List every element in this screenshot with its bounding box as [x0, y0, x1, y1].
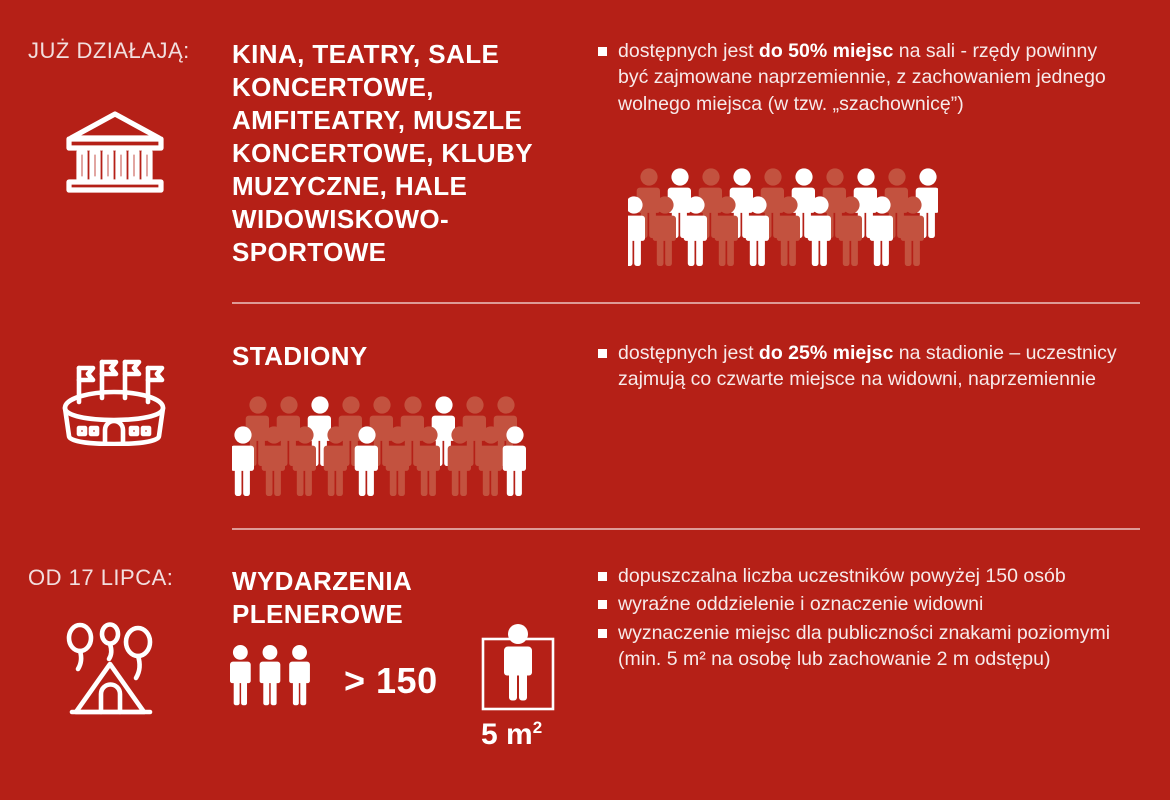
bullet-item: dopuszczalna liczba uczestników powyżej … [598, 563, 1128, 589]
classical-temple-icon [63, 108, 167, 199]
section-outdoor-bullets: dopuszczalna liczba uczestników powyżej … [598, 563, 1128, 674]
tent-balloons-icon [58, 622, 166, 725]
bullet-square-icon [598, 47, 607, 56]
section-divider [232, 302, 1140, 304]
bullet-text: dostępnych jest do 50% miejsc na sali - … [618, 38, 1128, 117]
stadium-icon [55, 358, 173, 451]
bullet-text: dopuszczalna liczba uczestników powyżej … [618, 563, 1066, 589]
bullet-square-icon [598, 349, 607, 358]
section-stadiums-title: STADIONY [232, 340, 582, 373]
section-halls-bullets: dostępnych jest do 50% miejsc na sali - … [598, 38, 1128, 119]
area-exponent: 2 [533, 718, 542, 737]
area-label: 5 m2 [481, 718, 542, 752]
section-halls-title: KINA, TEATRY, SALE KONCERTOWE, AMFITEATR… [232, 38, 582, 269]
area-value: 5 m [481, 718, 533, 751]
bullet-text: wyznaczenie miejsc dla publiczności znak… [618, 620, 1128, 673]
bullet-square-icon [598, 572, 607, 581]
section-stadiums-bullets: dostępnych jest do 25% miejsc na stadion… [598, 340, 1128, 395]
bullet-square-icon [598, 629, 607, 638]
section-divider [232, 528, 1140, 530]
people-threshold-label: > 150 [344, 660, 438, 702]
area-per-person-pictogram [480, 622, 562, 723]
bullet-item: wyznaczenie miejsc dla publiczności znak… [598, 620, 1128, 673]
infographic-canvas: JUŻ DZIAŁAJĄ: KINA, TEATRY, SALE KONCERT… [0, 0, 1170, 800]
bullet-text: wyraźne oddzielenie i oznaczenie widowni [618, 591, 983, 617]
section-outdoor-time-label: OD 17 LIPCA: [28, 565, 173, 591]
seating-checkerboard-25-pictogram [232, 396, 532, 505]
seating-checkerboard-50-pictogram [628, 168, 938, 273]
bullet-item: wyraźne oddzielenie i oznaczenie widowni [598, 591, 1128, 617]
bullet-item: dostępnych jest do 50% miejsc na sali - … [598, 38, 1128, 117]
bullet-square-icon [598, 600, 607, 609]
section-halls-time-label: JUŻ DZIAŁAJĄ: [28, 38, 190, 64]
bullet-text: dostępnych jest do 25% miejsc na stadion… [618, 340, 1128, 393]
bullet-item: dostępnych jest do 25% miejsc na stadion… [598, 340, 1128, 393]
three-people-pictogram [230, 645, 340, 712]
